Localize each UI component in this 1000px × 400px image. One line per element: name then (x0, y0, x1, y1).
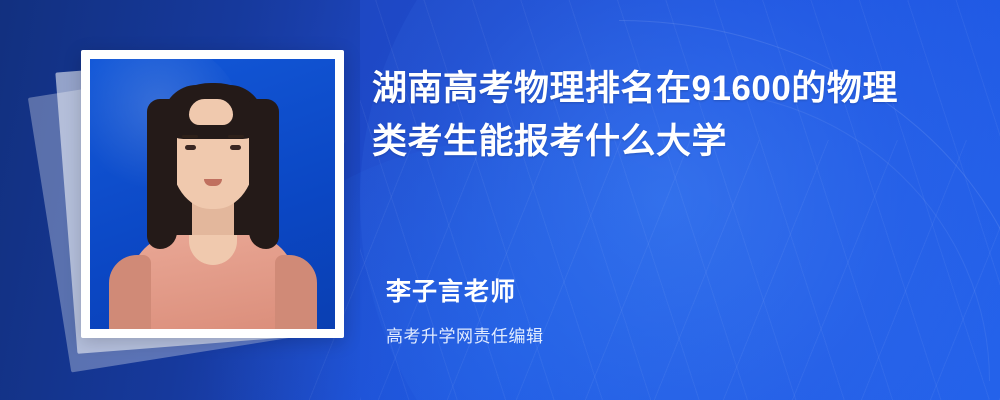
article-cover-banner: 湖南高考物理排名在91600的物理 类考生能报考什么大学 李子言老师 高考升学网… (0, 0, 1000, 400)
portrait-eye-left (185, 145, 196, 150)
portrait-hair-fringe (163, 85, 263, 139)
portrait-hair-left (147, 99, 177, 249)
portrait-eyebrow-left (182, 135, 198, 138)
headline-block: 湖南高考物理排名在91600的物理 类考生能报考什么大学 (372, 62, 952, 168)
portrait-photo (90, 59, 335, 329)
portrait-eye-right (230, 145, 241, 150)
photo-frame (81, 50, 344, 338)
headline-line-2: 类考生能报考什么大学 (372, 115, 952, 168)
portrait-eyebrow-right (228, 135, 244, 138)
headline-line-1: 湖南高考物理排名在91600的物理 (372, 62, 952, 115)
author-name: 李子言老师 (386, 272, 946, 308)
portrait-shoulder-left (109, 255, 151, 329)
byline-block: 李子言老师 高考升学网责任编辑 (386, 272, 946, 347)
photo-card-stack (48, 42, 348, 362)
portrait-shoulder-right (275, 255, 317, 329)
portrait-hair-right (249, 99, 279, 249)
author-role: 高考升学网责任编辑 (386, 322, 946, 347)
